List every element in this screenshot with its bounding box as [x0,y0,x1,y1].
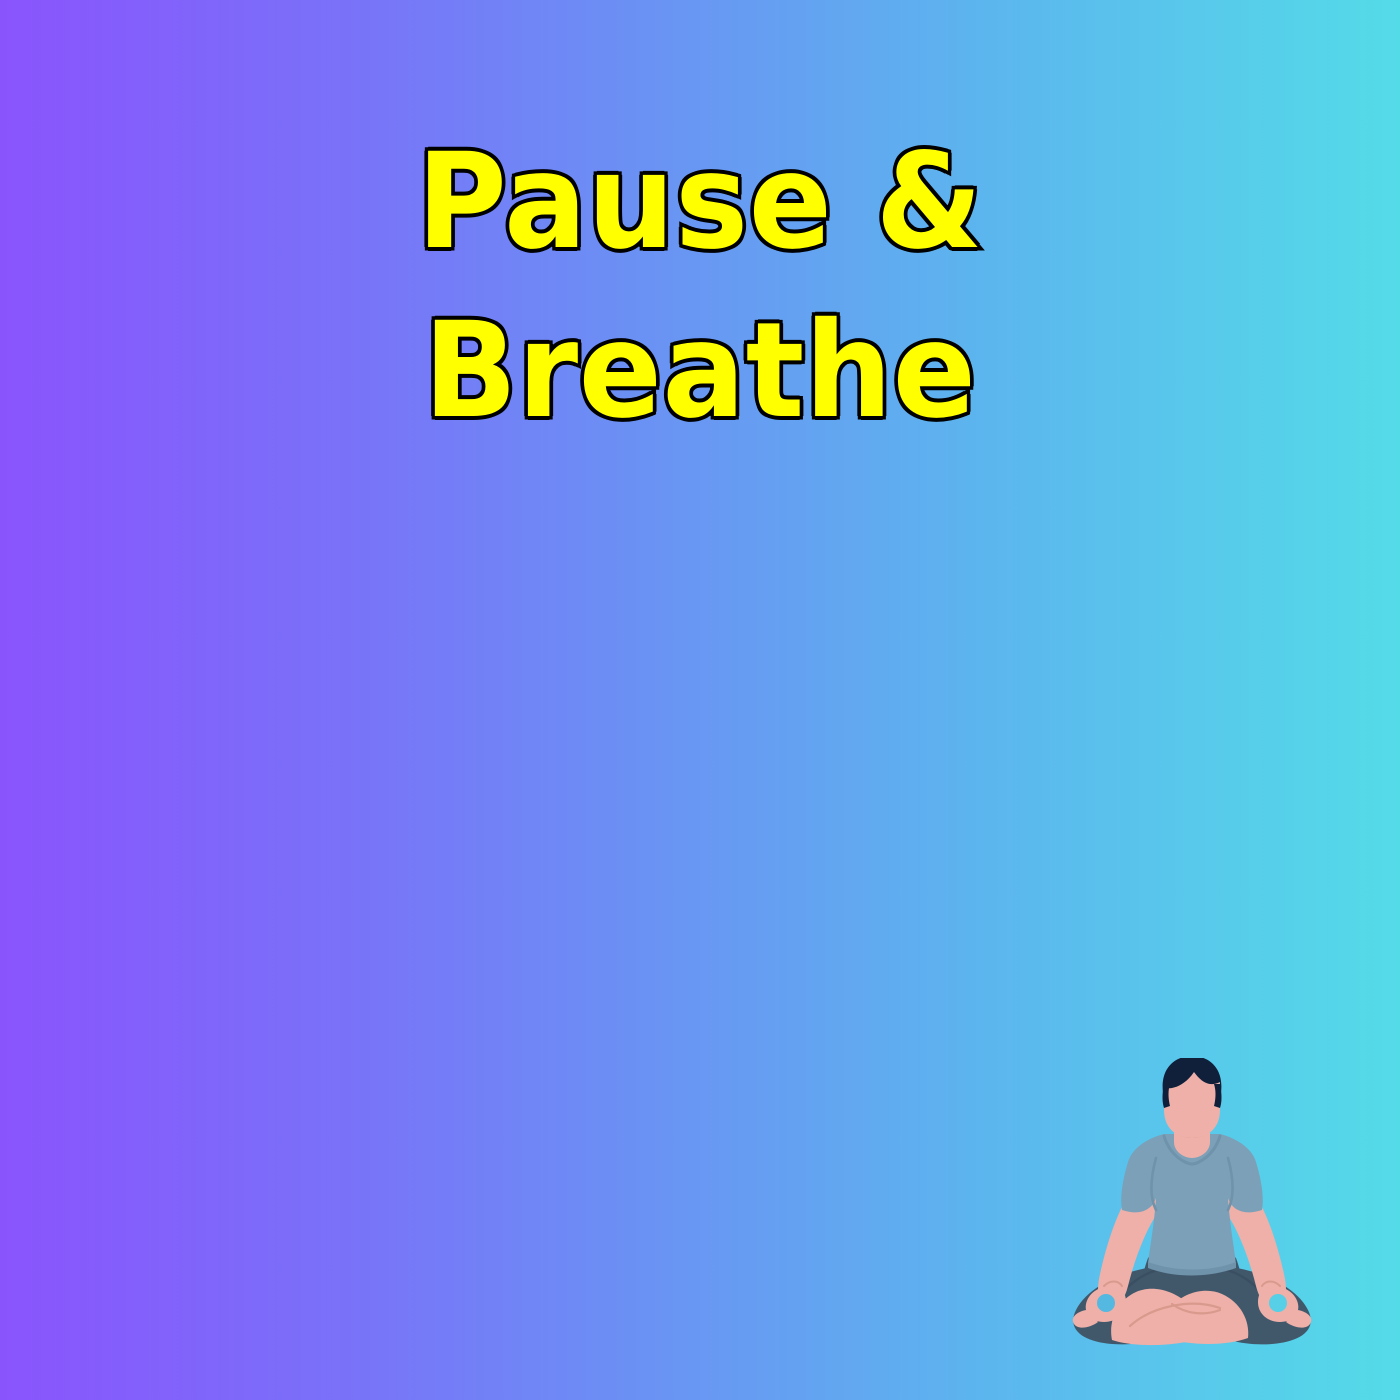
meditating-person-illustration [1052,1058,1332,1348]
poster-canvas: Pause & Breathe [0,0,1400,1400]
